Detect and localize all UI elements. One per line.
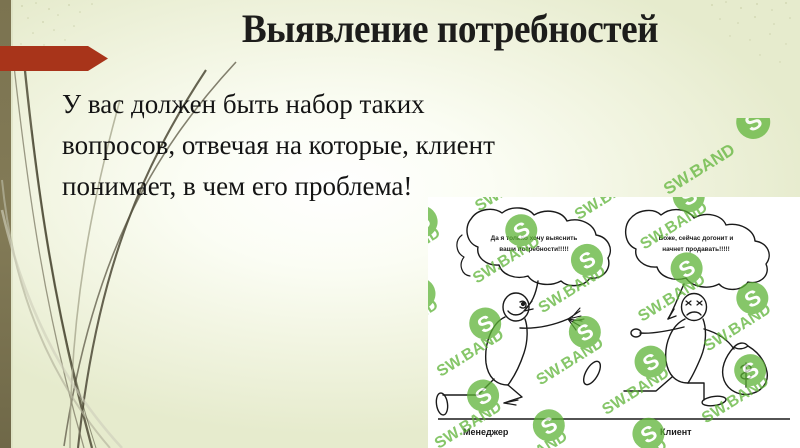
client-bubble-line-2: начнет продавать!!!!! bbox=[662, 246, 730, 253]
title-accent-arrow bbox=[0, 46, 108, 71]
label-client: Клиент bbox=[660, 427, 692, 437]
slide-canvas: Выявление потребностей У вас должен быть… bbox=[0, 0, 800, 448]
manager-bubble-line-2: ваши потребности!!!!! bbox=[499, 245, 568, 253]
manager-bubble-line-1: Да я только хочу выяснить bbox=[491, 235, 578, 242]
manager-pupil bbox=[522, 303, 525, 306]
cartoon-drawing: Да я только хочу выяснить ваши потребнос… bbox=[428, 197, 800, 448]
client-bubble-line-1: Боже, сейчас догонит и bbox=[659, 234, 734, 242]
body-line-1: У вас должен быть набор таких bbox=[62, 84, 532, 125]
page-title: Выявление потребностей bbox=[143, 6, 757, 52]
cartoon-image: Да я только хочу выяснить ваши потребнос… bbox=[428, 197, 800, 448]
label-manager: Менеджер bbox=[463, 427, 509, 437]
body-line-2: вопросов, отвечая на которые, клиент bbox=[62, 125, 532, 166]
slide-body-text: У вас должен быть набор таких вопросов, … bbox=[62, 84, 532, 207]
watermark-overflow-top: SW.BAND S bbox=[596, 118, 800, 202]
watermark-text: SW.BAND bbox=[660, 140, 738, 199]
watermark-logo-icon: S bbox=[730, 118, 777, 145]
svg-text:S: S bbox=[740, 118, 767, 137]
